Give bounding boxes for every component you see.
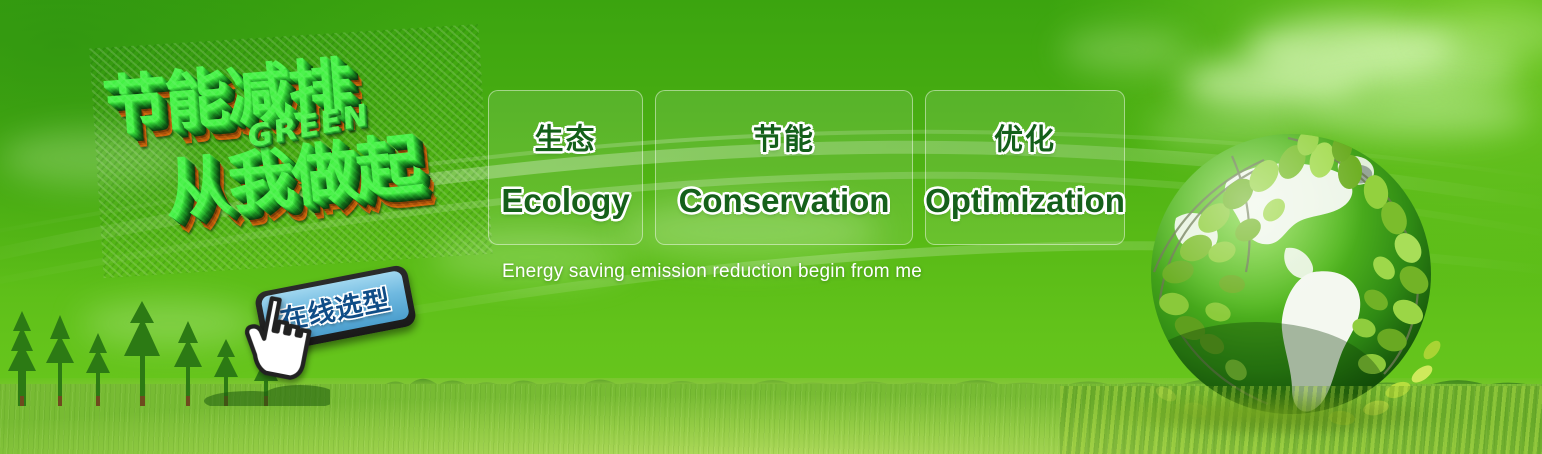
tagline: Energy saving emission reduction begin f… xyxy=(502,261,922,283)
eco-promo-banner: 节能减排 从我做起 GREEN 在线选型 生态 Ecology 节能 Conse… xyxy=(0,0,1542,454)
feature-card-cn-label: 节能 xyxy=(753,116,815,158)
feature-card-en-label: Conservation xyxy=(679,182,890,220)
feature-card-ecology[interactable]: 生态 Ecology xyxy=(488,90,643,245)
feature-card-cn-label: 优化 xyxy=(994,116,1056,158)
headline-artwork: 节能减排 从我做起 GREEN xyxy=(89,24,493,278)
leaf-litter-ground xyxy=(1060,386,1542,454)
feature-cards: 生态 Ecology 节能 Conservation 优化 Optimizati… xyxy=(488,90,1125,245)
feature-card-optimization[interactable]: 优化 Optimization xyxy=(925,90,1125,245)
feature-card-en-label: Ecology xyxy=(501,182,629,220)
feature-card-cn-label: 生态 xyxy=(534,116,596,158)
feature-card-en-label: Optimization xyxy=(925,182,1125,220)
feature-card-conservation[interactable]: 节能 Conservation xyxy=(655,90,913,245)
